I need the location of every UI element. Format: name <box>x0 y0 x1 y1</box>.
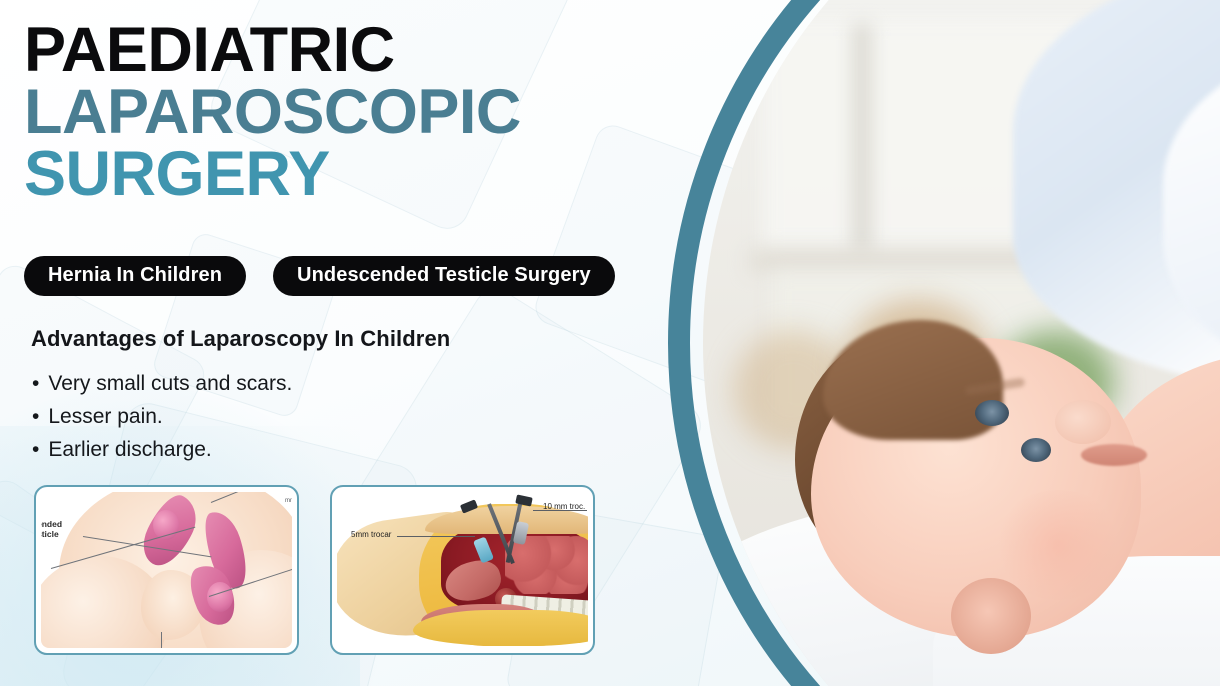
callout-leader-line <box>161 632 162 648</box>
list-item: Earlier discharge. <box>32 434 292 467</box>
paediatric-laparoscopic-surgery-banner: PAEDIATRIC LAPAROSCOPIC SURGERY Hernia I… <box>0 0 1220 686</box>
list-item: Lesser pain. <box>32 401 292 434</box>
anatomy-fat-layer <box>413 610 588 646</box>
callout-leader-line <box>397 536 475 537</box>
headline-line-1: PAEDIATRIC <box>24 22 521 80</box>
pill-undescended-testicle-surgery[interactable]: Undescended Testicle Surgery <box>273 256 615 296</box>
subheading: Advantages of Laparoscopy In Children <box>31 326 450 352</box>
page-title: PAEDIATRIC LAPAROSCOPIC SURGERY <box>24 22 521 204</box>
card-laparoscopy-cross-section[interactable]: 5mm trocar 10 mm troc. <box>330 485 595 655</box>
content-column: PAEDIATRIC LAPAROSCOPIC SURGERY Hernia I… <box>0 0 720 686</box>
callout-label-5mm-trocar: 5mm trocar <box>351 530 391 539</box>
card-image-laparoscopy: 5mm trocar 10 mm troc. <box>337 492 588 648</box>
card-undescended-testicle[interactable]: ended sticle mm <box>34 485 299 655</box>
anatomy-intestine <box>505 536 588 594</box>
anatomy-testicle <box>207 582 233 612</box>
card-image-undescended-testicle: ended sticle mm <box>41 492 292 648</box>
teal-crescent-divider <box>668 0 1220 686</box>
topic-pill-group: Hernia In Children Undescended Testicle … <box>24 256 615 296</box>
advantages-list: Very small cuts and scars. Lesser pain. … <box>32 368 292 466</box>
illustration-card-group: ended sticle mm <box>34 485 595 655</box>
callout-label-10mm-trocar: 10 mm troc. <box>543 502 585 511</box>
pill-hernia-in-children[interactable]: Hernia In Children <box>24 256 246 296</box>
callout-label-undescended-testicle: ended sticle <box>41 520 62 540</box>
headline-line-3: SURGERY <box>24 146 521 204</box>
headline-line-2: LAPAROSCOPIC <box>24 84 521 142</box>
callout-label-tick: mm <box>285 498 292 504</box>
list-item: Very small cuts and scars. <box>32 368 292 401</box>
